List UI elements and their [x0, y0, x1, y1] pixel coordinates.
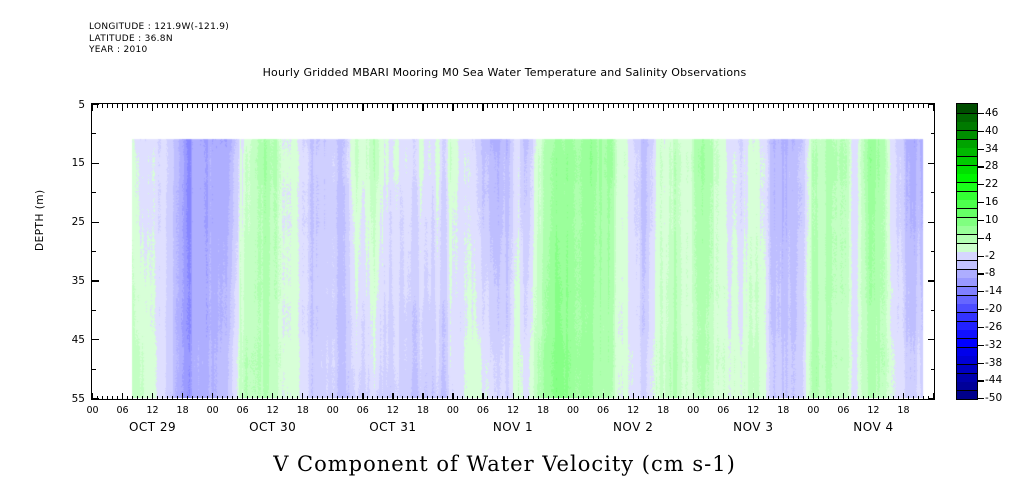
x-axis-top-tick	[548, 104, 549, 108]
x-axis-top-tick	[492, 104, 493, 108]
y-axis-tick-label: 5	[57, 99, 85, 111]
colorbar-tick	[978, 166, 984, 167]
colorbar-tick-label: -8	[985, 267, 995, 279]
x-axis-minor-tick	[157, 396, 158, 400]
x-axis-top-tick	[833, 104, 834, 108]
x-axis-top-tick	[242, 104, 243, 111]
colorbar-band	[957, 364, 977, 373]
x-axis-hour-label: 00	[327, 405, 339, 416]
x-axis-minor-tick	[848, 396, 849, 400]
y-axis-major-tick	[92, 280, 99, 281]
x-axis-minor-tick	[713, 396, 714, 400]
x-axis-minor-tick	[913, 396, 914, 400]
x-axis-top-tick	[723, 104, 724, 111]
x-axis-minor-tick	[548, 396, 549, 400]
x-axis-top-tick	[573, 104, 574, 111]
x-axis-hour-label: 12	[387, 405, 399, 416]
x-axis-minor-tick	[648, 396, 649, 400]
x-axis-top-tick	[262, 104, 263, 108]
x-axis-top-tick	[513, 104, 514, 111]
x-axis-minor-tick	[673, 396, 674, 400]
x-axis-minor-tick	[402, 396, 403, 400]
x-axis-top-tick	[287, 104, 288, 108]
y-axis-major-tick	[92, 163, 99, 164]
x-axis-date-label: OCT 30	[249, 420, 296, 434]
x-axis-minor-tick	[297, 396, 298, 400]
x-axis-minor-tick	[798, 396, 799, 400]
x-axis-top-tick	[307, 104, 308, 108]
x-axis-minor-tick	[638, 396, 639, 400]
chart-title: Hourly Gridded MBARI Mooring M0 Sea Wate…	[0, 66, 1009, 79]
x-axis-minor-tick	[908, 396, 909, 400]
x-axis-minor-tick	[863, 396, 864, 400]
x-axis-minor-tick	[678, 396, 679, 400]
x-axis-major-tick	[663, 393, 664, 400]
x-axis-hour-label: 00	[447, 405, 459, 416]
x-axis-minor-tick	[322, 396, 323, 400]
x-axis-top-tick	[643, 104, 644, 108]
x-axis-major-tick	[513, 393, 514, 400]
x-axis-minor-tick	[718, 396, 719, 400]
x-axis-top-tick	[237, 104, 238, 108]
x-axis-minor-tick	[618, 396, 619, 400]
x-axis-minor-tick	[828, 396, 829, 400]
x-axis-top-tick	[878, 104, 879, 108]
x-axis-top-tick	[427, 104, 428, 108]
x-axis-minor-tick	[192, 396, 193, 400]
x-axis-minor-tick	[162, 396, 163, 400]
x-axis-top-tick	[377, 104, 378, 108]
x-axis-hour-label: 18	[417, 405, 429, 416]
x-axis-top-tick	[608, 104, 609, 108]
x-axis-hour-label: 06	[717, 405, 729, 416]
x-axis-minor-tick	[467, 396, 468, 400]
x-axis-minor-tick	[743, 396, 744, 400]
x-axis-top-tick	[703, 104, 704, 108]
x-axis-hour-label: 12	[627, 405, 639, 416]
x-axis-top-tick	[748, 104, 749, 108]
x-axis-major-tick	[903, 393, 904, 400]
x-axis-top-tick	[773, 104, 774, 108]
x-axis-hour-label: 06	[477, 405, 489, 416]
x-axis-minor-tick	[222, 396, 223, 400]
x-axis-minor-tick	[307, 396, 308, 400]
x-axis-minor-tick	[172, 396, 173, 400]
colorbar-tick-label: 22	[985, 178, 998, 190]
x-axis-top-tick	[763, 104, 764, 108]
x-axis-top-tick	[232, 104, 233, 108]
x-axis-major-tick	[482, 393, 483, 400]
x-axis-major-tick	[302, 393, 303, 400]
x-axis-top-tick	[192, 104, 193, 108]
x-axis-minor-tick	[893, 396, 894, 400]
x-axis-top-tick	[502, 104, 503, 108]
y-axis-tick-label: 35	[57, 275, 85, 287]
x-axis-date-label: NOV 2	[613, 420, 653, 434]
x-axis-top-tick	[342, 104, 343, 108]
colorbar-band	[957, 199, 977, 208]
y-axis-right-tick	[928, 104, 935, 105]
x-axis-top-tick	[738, 104, 739, 108]
y-axis-minor-tick	[92, 251, 96, 252]
x-axis-minor-tick	[878, 396, 879, 400]
x-axis-minor-tick	[533, 396, 534, 400]
x-axis-minor-tick	[613, 396, 614, 400]
colorbar-tick	[978, 291, 984, 292]
colorbar-tick-label: 34	[985, 143, 998, 155]
x-axis-top-tick	[618, 104, 619, 108]
x-axis-top-tick	[437, 104, 438, 108]
x-axis-top-tick	[217, 104, 218, 108]
x-axis-minor-tick	[247, 396, 248, 400]
x-axis-minor-tick	[237, 396, 238, 400]
x-axis-minor-tick	[147, 396, 148, 400]
x-axis-top-tick	[137, 104, 138, 108]
x-axis-major-tick	[813, 393, 814, 400]
x-axis-major-tick	[242, 393, 243, 400]
colorbar-tick	[978, 184, 984, 185]
x-axis-minor-tick	[357, 396, 358, 400]
x-axis-minor-tick	[352, 396, 353, 400]
colorbar-band	[957, 269, 977, 278]
colorbar-band	[957, 286, 977, 295]
colorbar-band	[957, 208, 977, 217]
x-axis-top-tick	[538, 104, 539, 108]
x-axis-minor-tick	[793, 396, 794, 400]
x-axis-top-tick	[182, 104, 183, 111]
longitude-text: LONGITUDE : 121.9W(-121.9)	[89, 22, 229, 34]
colorbar-tick-label: 46	[985, 107, 998, 119]
y-axis-title: DEPTH (m)	[34, 189, 46, 251]
x-axis-top-tick	[668, 104, 669, 108]
x-axis-minor-tick	[698, 396, 699, 400]
x-axis-top-tick	[753, 104, 754, 111]
y-axis-right-tick	[931, 192, 935, 193]
x-axis-top-tick	[297, 104, 298, 108]
x-axis-minor-tick	[898, 396, 899, 400]
x-axis-hour-label: 00	[86, 405, 98, 416]
colorbar-band	[957, 173, 977, 182]
x-axis-top-tick	[207, 104, 208, 108]
x-axis-hour-label: 18	[777, 405, 789, 416]
x-axis-top-tick	[172, 104, 173, 108]
x-axis-top-tick	[693, 104, 694, 111]
x-axis-top-tick	[863, 104, 864, 108]
y-axis-minor-tick	[92, 192, 96, 193]
x-axis-top-tick	[497, 104, 498, 108]
x-axis-top-tick	[578, 104, 579, 108]
x-axis-top-tick	[918, 104, 919, 108]
x-axis-minor-tick	[107, 396, 108, 400]
colorbar-tick-label: -2	[985, 250, 995, 262]
x-axis-minor-tick	[748, 396, 749, 400]
x-axis-top-tick	[883, 104, 884, 108]
x-axis-minor-tick	[132, 396, 133, 400]
x-axis-major-tick	[753, 393, 754, 400]
x-axis-top-tick	[588, 104, 589, 108]
x-axis-minor-tick	[112, 396, 113, 400]
colorbar-tick	[978, 398, 984, 399]
x-axis-top-tick	[658, 104, 659, 108]
x-axis-top-tick	[447, 104, 448, 108]
colorbar-tick	[978, 345, 984, 346]
colorbar-band	[957, 156, 977, 165]
colorbar-tick	[978, 131, 984, 132]
x-axis-top-tick	[387, 104, 388, 108]
x-axis-minor-tick	[252, 396, 253, 400]
x-axis-hour-label: 06	[116, 405, 128, 416]
x-axis-top-tick	[177, 104, 178, 108]
x-axis-minor-tick	[502, 396, 503, 400]
x-axis-minor-tick	[553, 396, 554, 400]
colorbar-tick-label: -32	[985, 339, 1002, 351]
x-axis-top-tick	[167, 104, 168, 108]
x-axis-top-tick	[913, 104, 914, 108]
x-axis-top-tick	[147, 104, 148, 108]
x-axis-minor-tick	[442, 396, 443, 400]
y-axis-minor-tick	[92, 369, 96, 370]
x-axis-top-tick	[783, 104, 784, 111]
colorbar-band	[957, 225, 977, 234]
figure-caption: V Component of Water Velocity (cm s-1)	[0, 452, 1009, 476]
x-axis-minor-tick	[167, 396, 168, 400]
colorbar-band	[957, 217, 977, 226]
x-axis-top-tick	[222, 104, 223, 108]
x-axis-minor-tick	[888, 396, 889, 400]
x-axis-major-tick	[212, 393, 213, 400]
x-axis-hour-label: 18	[537, 405, 549, 416]
station-metadata: LONGITUDE : 121.9W(-121.9) LATITUDE : 36…	[89, 22, 229, 57]
x-axis-major-tick	[723, 393, 724, 400]
x-axis-top-tick	[598, 104, 599, 108]
x-axis-minor-tick	[262, 396, 263, 400]
x-axis-top-tick	[583, 104, 584, 108]
x-axis-minor-tick	[102, 396, 103, 400]
x-axis-top-tick	[397, 104, 398, 108]
colorbar-tick-label: 4	[985, 232, 992, 244]
x-axis-minor-tick	[282, 396, 283, 400]
x-axis-minor-tick	[588, 396, 589, 400]
x-axis-minor-tick	[432, 396, 433, 400]
x-axis-minor-tick	[738, 396, 739, 400]
x-axis-top-tick	[187, 104, 188, 108]
x-axis-top-tick	[793, 104, 794, 108]
x-axis-top-tick	[127, 104, 128, 108]
x-axis-top-tick	[888, 104, 889, 108]
x-axis-top-tick	[317, 104, 318, 108]
x-axis-top-tick	[533, 104, 534, 108]
x-axis-top-tick	[412, 104, 413, 108]
x-axis-minor-tick	[137, 396, 138, 400]
y-axis-right-tick	[931, 310, 935, 311]
x-axis-top-tick	[202, 104, 203, 108]
x-axis-top-tick	[322, 104, 323, 108]
x-axis-hour-label: 06	[837, 405, 849, 416]
x-axis-minor-tick	[528, 396, 529, 400]
x-axis-minor-tick	[628, 396, 629, 400]
x-axis-top-tick	[432, 104, 433, 108]
x-axis-minor-tick	[768, 396, 769, 400]
colorbar-band	[957, 147, 977, 156]
x-axis-top-tick	[382, 104, 383, 108]
x-axis-hour-label: 06	[357, 405, 369, 416]
x-axis-top-tick	[813, 104, 814, 111]
x-axis-hour-label: 12	[867, 405, 879, 416]
x-axis-minor-tick	[347, 396, 348, 400]
x-axis-major-tick	[573, 393, 574, 400]
x-axis-top-tick	[372, 104, 373, 108]
x-axis-hour-label: 00	[567, 405, 579, 416]
x-axis-minor-tick	[337, 396, 338, 400]
x-axis-major-tick	[392, 393, 393, 400]
x-axis-minor-tick	[377, 396, 378, 400]
colorbar-band	[957, 121, 977, 130]
x-axis-top-tick	[528, 104, 529, 108]
x-axis-minor-tick	[477, 396, 478, 400]
x-axis-top-tick	[678, 104, 679, 108]
y-axis-right-tick	[931, 251, 935, 252]
x-axis-top-tick	[873, 104, 874, 111]
x-axis-major-tick	[122, 393, 123, 400]
colorbar-tick	[978, 238, 984, 239]
x-axis-minor-tick	[447, 396, 448, 400]
y-axis-tick-label: 15	[57, 157, 85, 169]
x-axis-major-tick	[843, 393, 844, 400]
x-axis-minor-tick	[818, 396, 819, 400]
x-axis-top-tick	[462, 104, 463, 108]
colorbar-tick-label: -38	[985, 357, 1002, 369]
x-axis-major-tick	[783, 393, 784, 400]
colorbar-band	[957, 321, 977, 330]
x-axis-minor-tick	[523, 396, 524, 400]
x-axis-minor-tick	[568, 396, 569, 400]
x-axis-top-tick	[417, 104, 418, 108]
colorbar-band	[957, 130, 977, 139]
x-axis-top-tick	[758, 104, 759, 108]
x-axis-minor-tick	[583, 396, 584, 400]
x-axis-minor-tick	[593, 396, 594, 400]
x-axis-hour-label: 12	[267, 405, 279, 416]
y-axis-major-tick	[92, 104, 99, 105]
x-axis-minor-tick	[267, 396, 268, 400]
y-axis-right-tick	[928, 222, 935, 223]
x-axis-minor-tick	[858, 396, 859, 400]
x-axis-top-tick	[467, 104, 468, 108]
x-axis-hour-label: 12	[507, 405, 519, 416]
x-axis-minor-tick	[207, 396, 208, 400]
x-axis-date-label: OCT 31	[369, 420, 416, 434]
x-axis-top-tick	[112, 104, 113, 108]
colorbar-band	[957, 312, 977, 321]
x-axis-top-tick	[673, 104, 674, 108]
x-axis-minor-tick	[257, 396, 258, 400]
x-axis-major-tick	[332, 393, 333, 400]
x-axis-minor-tick	[287, 396, 288, 400]
y-axis-minor-tick	[92, 133, 96, 134]
x-axis-top-tick	[563, 104, 564, 108]
x-axis-minor-tick	[683, 396, 684, 400]
x-axis-major-tick	[633, 393, 634, 400]
x-axis-minor-tick	[312, 396, 313, 400]
colorbar-tick	[978, 149, 984, 150]
x-axis-top-tick	[107, 104, 108, 108]
x-axis-top-tick	[808, 104, 809, 108]
x-axis-minor-tick	[598, 396, 599, 400]
x-axis-minor-tick	[808, 396, 809, 400]
x-axis-minor-tick	[838, 396, 839, 400]
x-axis-top-tick	[212, 104, 213, 111]
x-axis-top-tick	[868, 104, 869, 108]
x-axis-top-tick	[828, 104, 829, 108]
x-axis-minor-tick	[733, 396, 734, 400]
colorbar-tick	[978, 327, 984, 328]
x-axis-minor-tick	[412, 396, 413, 400]
y-axis-minor-tick	[92, 310, 96, 311]
x-axis-minor-tick	[177, 396, 178, 400]
x-axis-top-tick	[407, 104, 408, 108]
colorbar-band	[957, 234, 977, 243]
y-axis-right-tick	[928, 163, 935, 164]
x-axis-minor-tick	[703, 396, 704, 400]
x-axis-top-tick	[302, 104, 303, 111]
x-axis-minor-tick	[277, 396, 278, 400]
x-axis-top-tick	[282, 104, 283, 108]
colorbar-tick	[978, 273, 984, 274]
colorbar-band	[957, 139, 977, 148]
x-axis-top-tick	[152, 104, 153, 111]
colorbar-band	[957, 338, 977, 347]
x-axis-date-label: NOV 1	[493, 420, 533, 434]
x-axis-minor-tick	[142, 396, 143, 400]
x-axis-minor-tick	[232, 396, 233, 400]
colorbar-band	[957, 329, 977, 338]
colorbar-tick-label: -50	[985, 392, 1002, 404]
x-axis-top-tick	[543, 104, 544, 111]
x-axis-top-tick	[252, 104, 253, 108]
x-axis-minor-tick	[217, 396, 218, 400]
x-axis-top-tick	[162, 104, 163, 108]
x-axis-top-tick	[122, 104, 123, 111]
x-axis-minor-tick	[457, 396, 458, 400]
x-axis-top-tick	[132, 104, 133, 108]
x-axis-top-tick	[352, 104, 353, 108]
colorbar-band	[957, 165, 977, 174]
x-axis-hour-label: 06	[237, 405, 249, 416]
x-axis-major-tick	[873, 393, 874, 400]
colorbar-tick-label: 16	[985, 196, 998, 208]
x-axis-top-tick	[477, 104, 478, 108]
x-axis-top-tick	[623, 104, 624, 108]
colorbar-tick-label: -20	[985, 303, 1002, 315]
x-axis-minor-tick	[518, 396, 519, 400]
x-axis-major-tick	[272, 393, 273, 400]
x-axis-top-tick	[327, 104, 328, 108]
x-axis-top-tick	[332, 104, 333, 111]
x-axis-minor-tick	[117, 396, 118, 400]
x-axis-top-tick	[267, 104, 268, 108]
colorbar-band	[957, 295, 977, 304]
x-axis-minor-tick	[427, 396, 428, 400]
y-axis-right-tick	[928, 280, 935, 281]
x-axis-top-tick	[392, 104, 393, 111]
x-axis-top-tick	[487, 104, 488, 108]
colorbar-band	[957, 303, 977, 312]
x-axis-hour-label: 18	[297, 405, 309, 416]
colorbar-tick	[978, 309, 984, 310]
y-axis-right-tick	[931, 369, 935, 370]
x-axis-minor-tick	[708, 396, 709, 400]
x-axis-top-tick	[743, 104, 744, 108]
